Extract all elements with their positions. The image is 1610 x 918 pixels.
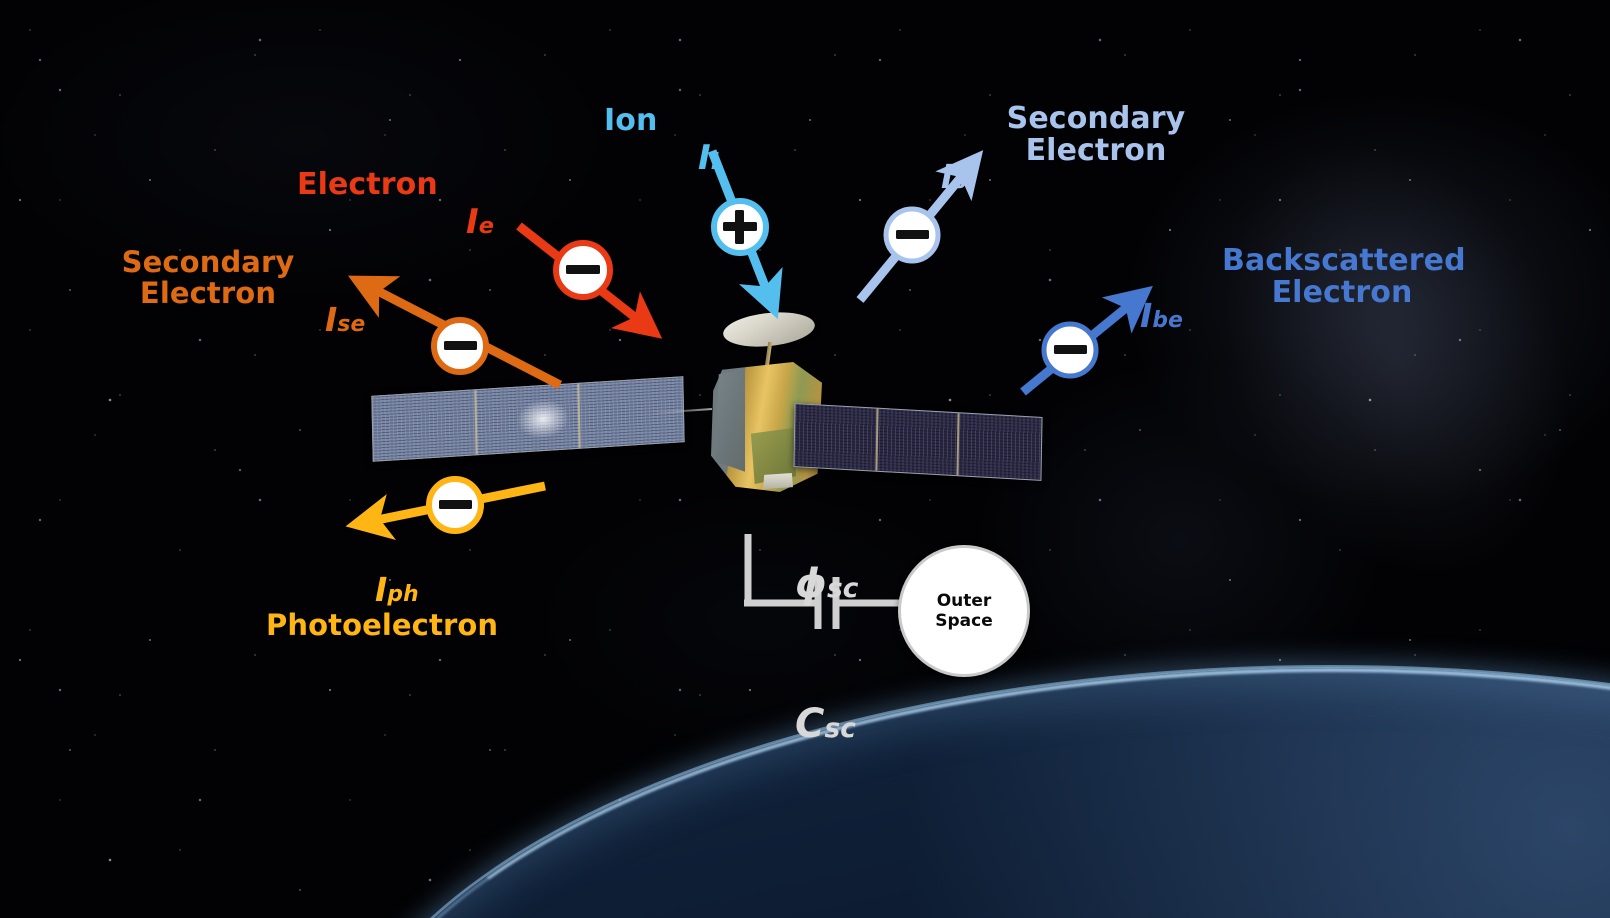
backscattered-electron-label: Backscattered Electron [1222, 245, 1462, 309]
spacecraft-capacitance-symbol: Csc [795, 661, 856, 746]
backscattered-electron-current-symbol: Ibe [1140, 264, 1183, 334]
secondary-electron-left-label: Secondary Electron [118, 247, 298, 308]
ion-symbol-subscript: i [711, 149, 719, 175]
electron-current-symbol: Ie [466, 168, 494, 240]
secondary-electron-right-label: Secondary Electron [1002, 103, 1190, 167]
be-symbol-subscript: be [1152, 308, 1183, 333]
annotation-overlay [0, 0, 1610, 918]
electron-current-symbol-base: I [466, 202, 479, 242]
potential-symbol-base: ϕ [795, 561, 827, 607]
be-symbol-base: I [1140, 296, 1152, 335]
photoelectron-symbol-subscript: ph [387, 582, 418, 607]
ion-label: Ion [604, 105, 657, 137]
se-right-symbol-base: I [941, 157, 953, 196]
outer-space-node-label: Outer Space [935, 591, 993, 631]
ion-symbol-base: I [698, 138, 711, 178]
capacitance-symbol-subscript: sc [824, 713, 856, 744]
ion-flux-arrow [712, 151, 768, 294]
potential-symbol-subscript: sc [827, 573, 859, 604]
photoelectron-current-symbol: Iph [375, 538, 419, 608]
spacecraft-charging-diagram: Outer Space Electron Ie Secondary Electr… [0, 0, 1610, 918]
se-left-symbol-subscript: se [337, 312, 365, 337]
electron-label: Electron [297, 169, 438, 201]
secondary-electron-left-current-symbol: Ise [325, 268, 365, 338]
outer-space-node: Outer Space [898, 545, 1030, 677]
photoelectron-symbol-base: I [375, 570, 387, 609]
spacecraft-potential-symbol: ϕsc [795, 521, 859, 606]
se-left-symbol-base: I [325, 300, 337, 339]
photoelectron-label: Photoelectron [266, 610, 498, 641]
backscattered-electron-arrow [1023, 303, 1132, 392]
electron-flux-arrow [519, 226, 641, 322]
ion-current-symbol: Ii [698, 104, 719, 176]
se-right-symbol-subscript: si [953, 169, 974, 194]
photoelectron-arrow [372, 479, 545, 531]
capacitance-symbol-base: C [795, 701, 824, 747]
secondary-electron-right-current-symbol: Isi [941, 125, 974, 195]
secondary-electron-left-arrow [372, 288, 560, 385]
electron-current-subscript: e [479, 213, 494, 239]
